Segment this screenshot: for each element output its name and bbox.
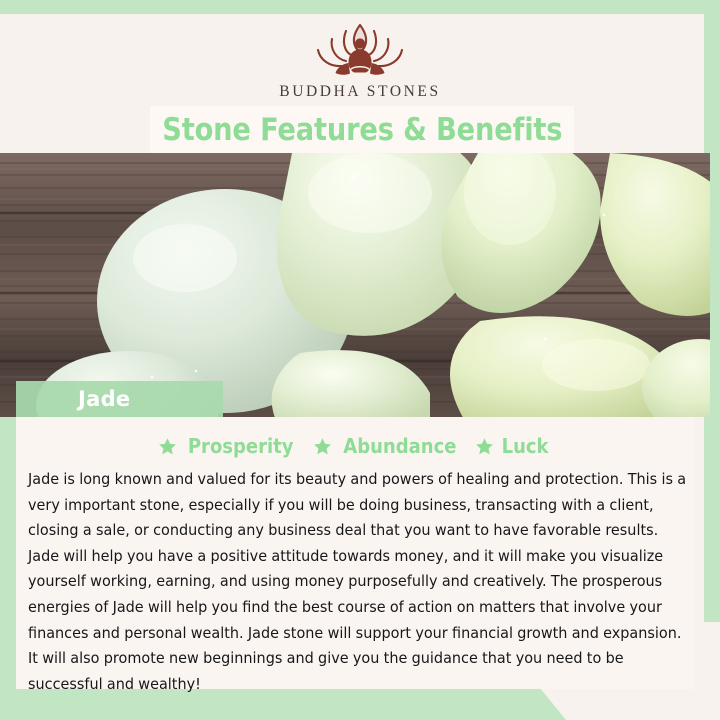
benefit-item-prosperity: Prosperity <box>158 434 299 458</box>
jade-stones-photo <box>0 153 710 417</box>
stone-info-card: Prosperity Abundance Luck Jade is long k… <box>16 417 694 689</box>
benefit-item-abundance: Abundance <box>313 434 463 458</box>
decorative-band-top <box>0 0 720 14</box>
benefit-item-luck: Luck <box>475 434 551 458</box>
lotus-meditation-icon <box>296 19 424 81</box>
photo-illustration <box>0 153 710 417</box>
stone-name-banner: Jade <box>16 381 223 417</box>
star-icon <box>475 437 494 456</box>
stone-info-poster: BUDDHA STONES Stone Features & Benefits <box>0 0 720 720</box>
benefits-list: Prosperity Abundance Luck <box>28 431 682 461</box>
benefit-label: Prosperity <box>188 434 294 458</box>
stone-name: Jade <box>78 387 130 411</box>
star-icon <box>313 437 332 456</box>
benefit-label: Abundance <box>343 434 456 458</box>
page-title: Stone Features & Benefits <box>162 112 562 148</box>
stone-description: Jade is long known and valued for its be… <box>28 467 691 697</box>
brand-name: BUDDHA STONES <box>279 83 440 101</box>
page-title-strip: Stone Features & Benefits <box>150 106 574 153</box>
star-icon <box>158 437 177 456</box>
decorative-band-left <box>0 390 16 720</box>
benefit-label: Luck <box>502 434 549 458</box>
brand-logo: BUDDHA STONES <box>0 14 720 106</box>
